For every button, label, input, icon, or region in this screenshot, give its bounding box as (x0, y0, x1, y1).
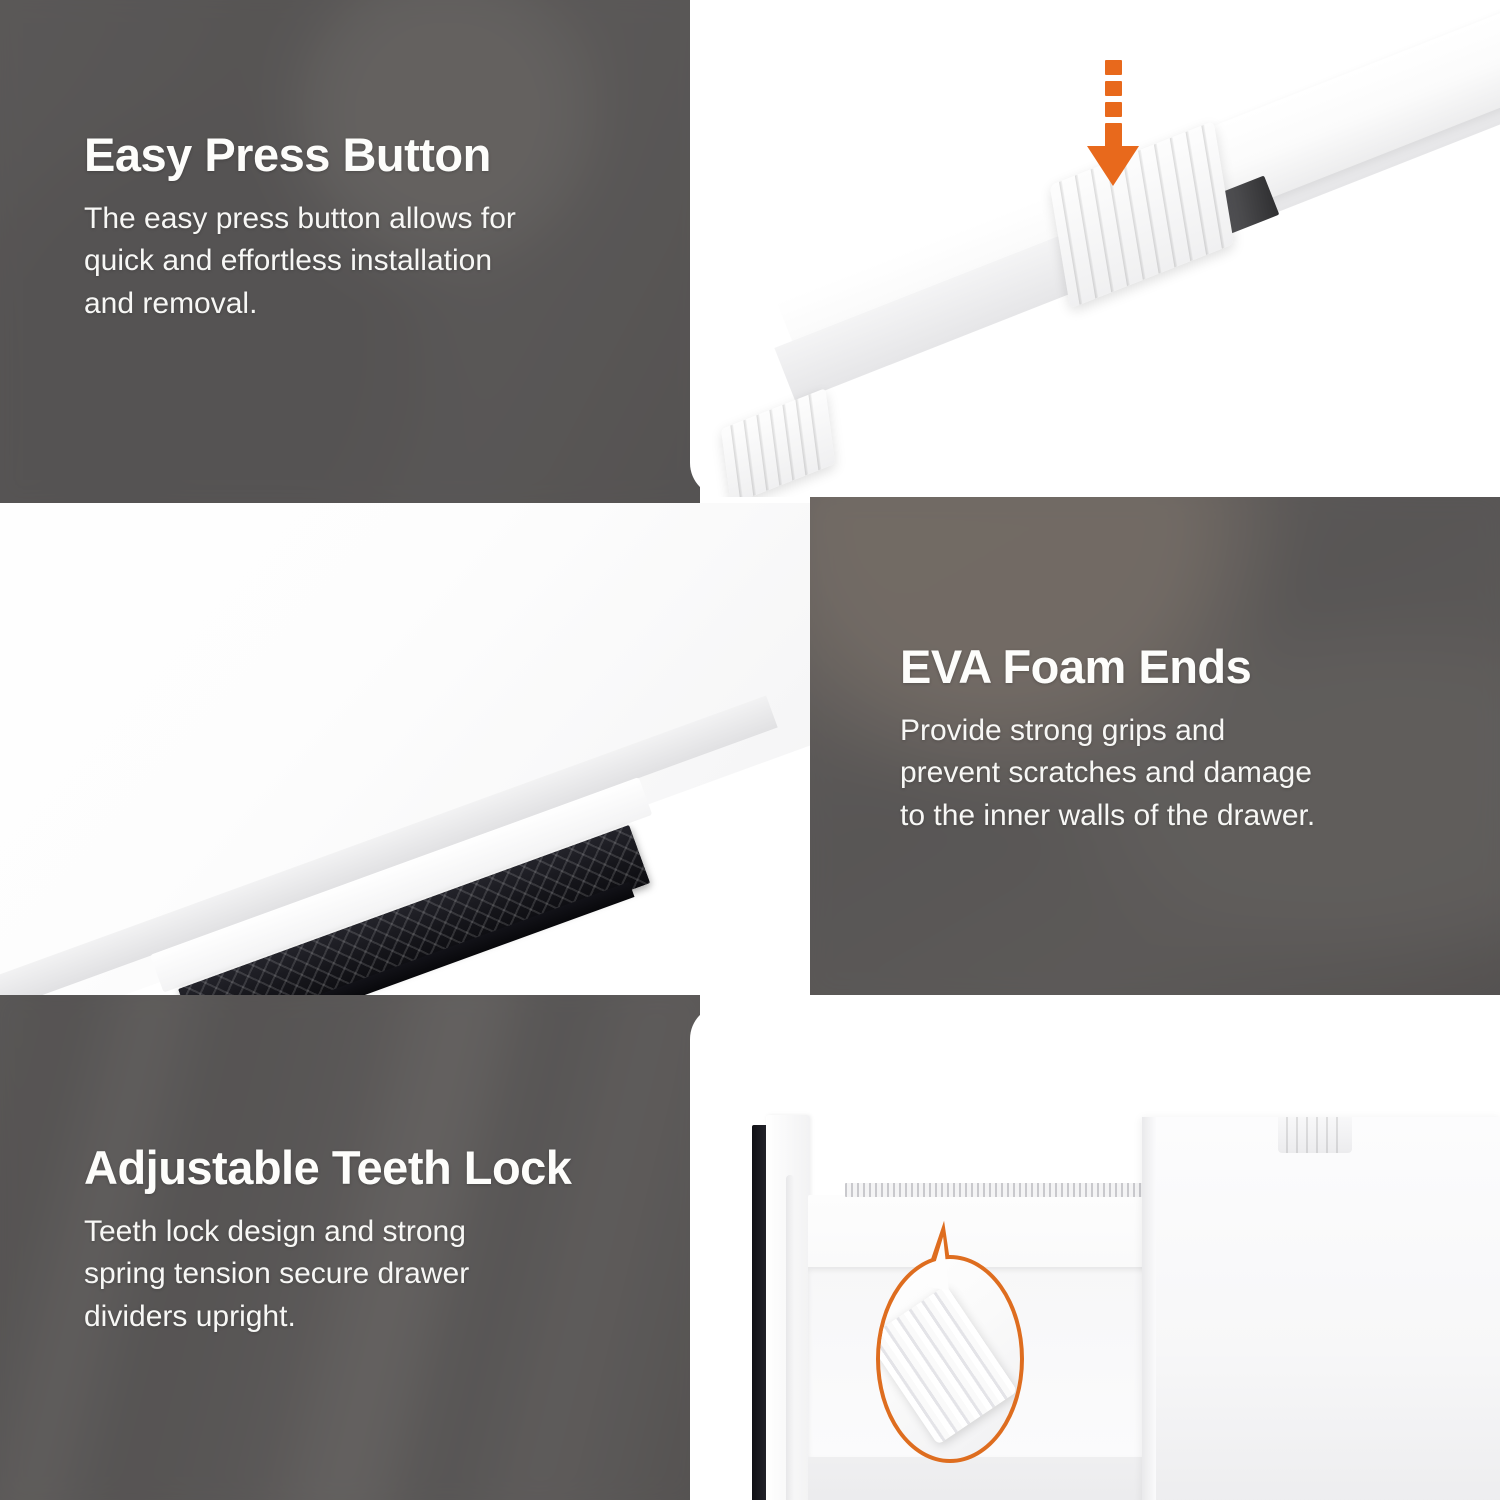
product-photo-adjustable-teeth-lock (690, 1005, 1500, 1500)
feature-body-line: spring tension secure drawer (84, 1253, 674, 1296)
feature-text-block-2: EVA Foam Ends Provide strong grips and p… (900, 642, 1460, 838)
press-button-secondary-icon (721, 388, 835, 497)
divider-main-body (1142, 1117, 1500, 1500)
down-arrow-icon (1088, 60, 1148, 180)
feature-body-line: The easy press button allows for (84, 198, 664, 241)
product-feature-infographic: Easy Press Button The easy press button … (0, 0, 1500, 1500)
callout-circle (876, 1255, 1024, 1463)
product-photo-eva-foam-ends (0, 503, 818, 995)
feature-panel-adjustable-teeth-lock: Adjustable Teeth Lock Teeth lock design … (0, 995, 700, 1500)
feature-heading-2: EVA Foam Ends (900, 642, 1460, 692)
feature-body-line: and removal. (84, 283, 664, 326)
feature-body-2: Provide strong grips and prevent scratch… (900, 710, 1460, 838)
divider-main-body-edge (1142, 1117, 1156, 1500)
feature-body-1: The easy press button allows for quick a… (84, 198, 664, 326)
feature-body-3: Teeth lock design and strong spring tens… (84, 1211, 674, 1339)
feature-panel-eva-foam-ends: EVA Foam Ends Provide strong grips and p… (810, 497, 1500, 995)
feature-panel-easy-press-button: Easy Press Button The easy press button … (0, 0, 700, 503)
feature-body-line: Provide strong grips and (900, 710, 1460, 753)
teeth-rack-icon (845, 1183, 1145, 1197)
feature-heading-3: Adjustable Teeth Lock (84, 1143, 674, 1193)
press-button-icon (1278, 1117, 1352, 1153)
teeth-pawl-detail (876, 1285, 1018, 1445)
feature-body-line: prevent scratches and damage (900, 752, 1460, 795)
feature-body-line: to the inner walls of the drawer. (900, 795, 1460, 838)
divider-end-groove (786, 1175, 794, 1500)
feature-heading-1: Easy Press Button (84, 130, 664, 180)
feature-body-line: dividers upright. (84, 1296, 674, 1339)
feature-body-line: Teeth lock design and strong (84, 1211, 674, 1254)
feature-text-block-3: Adjustable Teeth Lock Teeth lock design … (84, 1143, 674, 1339)
magnifier-callout-icon (876, 1227, 1026, 1467)
feature-text-block-1: Easy Press Button The easy press button … (84, 130, 664, 326)
product-photo-easy-press-button (690, 0, 1500, 497)
feature-body-line: quick and effortless installation (84, 240, 664, 283)
